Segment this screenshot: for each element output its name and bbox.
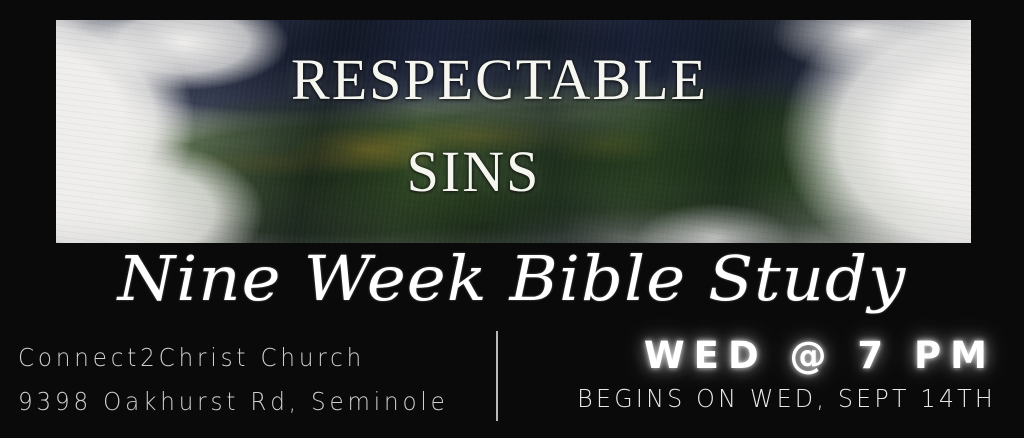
- study-headline: Nine Week Bible Study: [0, 248, 1024, 310]
- venue-address: 9398 Oakhurst Rd, Seminole: [18, 380, 441, 424]
- venue-name: Connect2Christ Church: [18, 336, 441, 380]
- book-title-primary: RESPECTABLE: [56, 46, 957, 113]
- event-flyer: RESPECTABLE SINS Nine Week Bible Study C…: [0, 0, 1024, 438]
- venue-info: Connect2Christ Church 9398 Oakhurst Rd, …: [18, 336, 478, 424]
- book-title-secondary: SINS: [56, 138, 931, 205]
- banner-artwork: RESPECTABLE SINS: [56, 20, 971, 243]
- schedule-info: WED @ 7 PM BEGINS ON WED, SEPT 14TH: [476, 334, 996, 415]
- start-date: BEGINS ON WED, SEPT 14TH: [502, 383, 996, 415]
- meeting-time: WED @ 7 PM: [476, 334, 996, 378]
